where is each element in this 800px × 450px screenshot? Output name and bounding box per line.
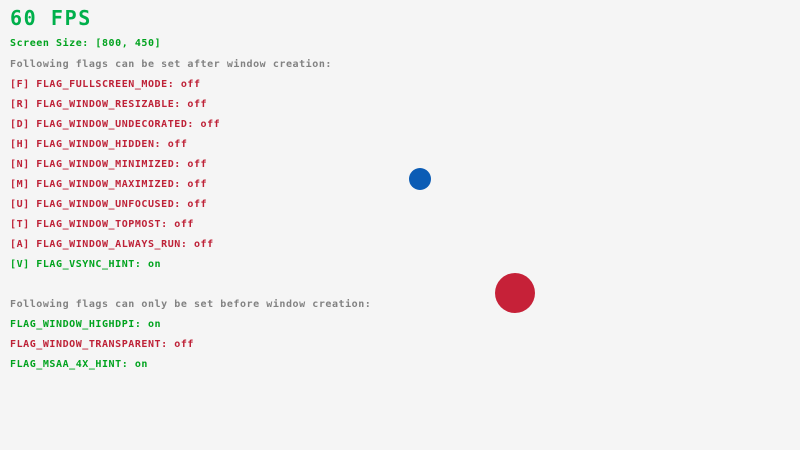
flag-row-flag-msaa-4x-hint[interactable]: FLAG_MSAA_4X_HINT: on (10, 360, 148, 370)
flag-row-flag-window-undecorated[interactable]: [D] FLAG_WINDOW_UNDECORATED: off (10, 120, 220, 130)
section-header-before-creation: Following flags can only be set before w… (10, 300, 371, 310)
flag-row-flag-window-resizable[interactable]: [R] FLAG_WINDOW_RESIZABLE: off (10, 100, 207, 110)
raylib-window-flags-demo: 60 FPS Screen Size: [800, 450] Following… (0, 0, 800, 450)
screen-size-label: Screen Size: [800, 450] (10, 39, 161, 49)
section-header-after-creation: Following flags can be set after window … (10, 60, 332, 70)
flag-row-flag-window-highdpi[interactable]: FLAG_WINDOW_HIGHDPI: on (10, 320, 161, 330)
flag-row-flag-window-transparent[interactable]: FLAG_WINDOW_TRANSPARENT: off (10, 340, 194, 350)
flag-row-flag-window-maximized[interactable]: [M] FLAG_WINDOW_MAXIMIZED: off (10, 180, 207, 190)
flag-row-flag-window-always-run[interactable]: [A] FLAG_WINDOW_ALWAYS_RUN: off (10, 240, 214, 250)
flag-row-flag-window-hidden[interactable]: [H] FLAG_WINDOW_HIDDEN: off (10, 140, 187, 150)
hud-overlay: 60 FPS Screen Size: [800, 450] Following… (0, 0, 800, 450)
flag-row-flag-fullscreen-mode[interactable]: [F] FLAG_FULLSCREEN_MODE: off (10, 80, 201, 90)
flag-row-flag-window-unfocused[interactable]: [U] FLAG_WINDOW_UNFOCUSED: off (10, 200, 207, 210)
flag-row-flag-window-minimized[interactable]: [N] FLAG_WINDOW_MINIMIZED: off (10, 160, 207, 170)
fps-counter: 60 FPS (10, 8, 92, 28)
flag-row-flag-vsync-hint[interactable]: [V] FLAG_VSYNC_HINT: on (10, 260, 161, 270)
flag-row-flag-window-topmost[interactable]: [T] FLAG_WINDOW_TOPMOST: off (10, 220, 194, 230)
